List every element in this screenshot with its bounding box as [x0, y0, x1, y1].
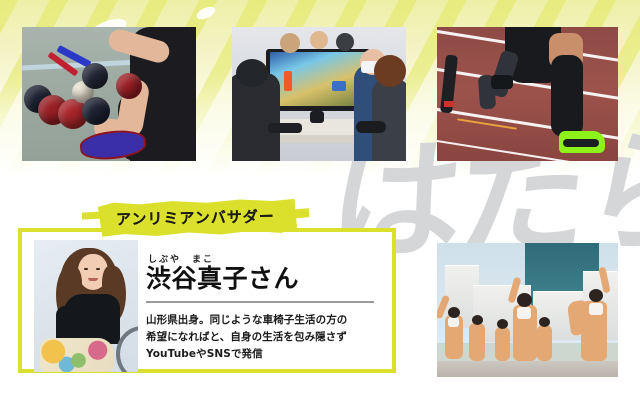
photo-dance: [437, 243, 618, 377]
ambassador-card: しぶや まこ 渋谷真子さん 山形県出身。同じような車椅子生活の方の 希望になれば…: [18, 228, 396, 373]
ambassador-name: 渋谷真子さん: [146, 266, 378, 292]
description-line: YouTubeやSNSで発信: [146, 346, 378, 363]
slide-canvas: はたらい は: [0, 0, 640, 405]
photo-blade: [437, 27, 618, 161]
ambassador-badge-wrapper: アンリミアンバサダー: [96, 200, 297, 236]
ambassador-portrait: [34, 240, 138, 372]
ambassador-info: しぶや まこ 渋谷真子さん 山形県出身。同じような車椅子生活の方の 希望になれば…: [146, 252, 378, 363]
ambassador-badge: アンリミアンバサダー: [96, 198, 297, 238]
divider: [146, 301, 374, 303]
photo-boccia: [22, 27, 196, 161]
description-line: 希望になればと、自身の生活を包み隠さず: [146, 329, 378, 346]
photo-esports: [232, 27, 406, 161]
description-line: 山形県出身。同じような車椅子生活の方の: [146, 312, 378, 329]
ambassador-description: 山形県出身。同じような車椅子生活の方の 希望になればと、自身の生活を包み隠さず …: [146, 312, 378, 363]
